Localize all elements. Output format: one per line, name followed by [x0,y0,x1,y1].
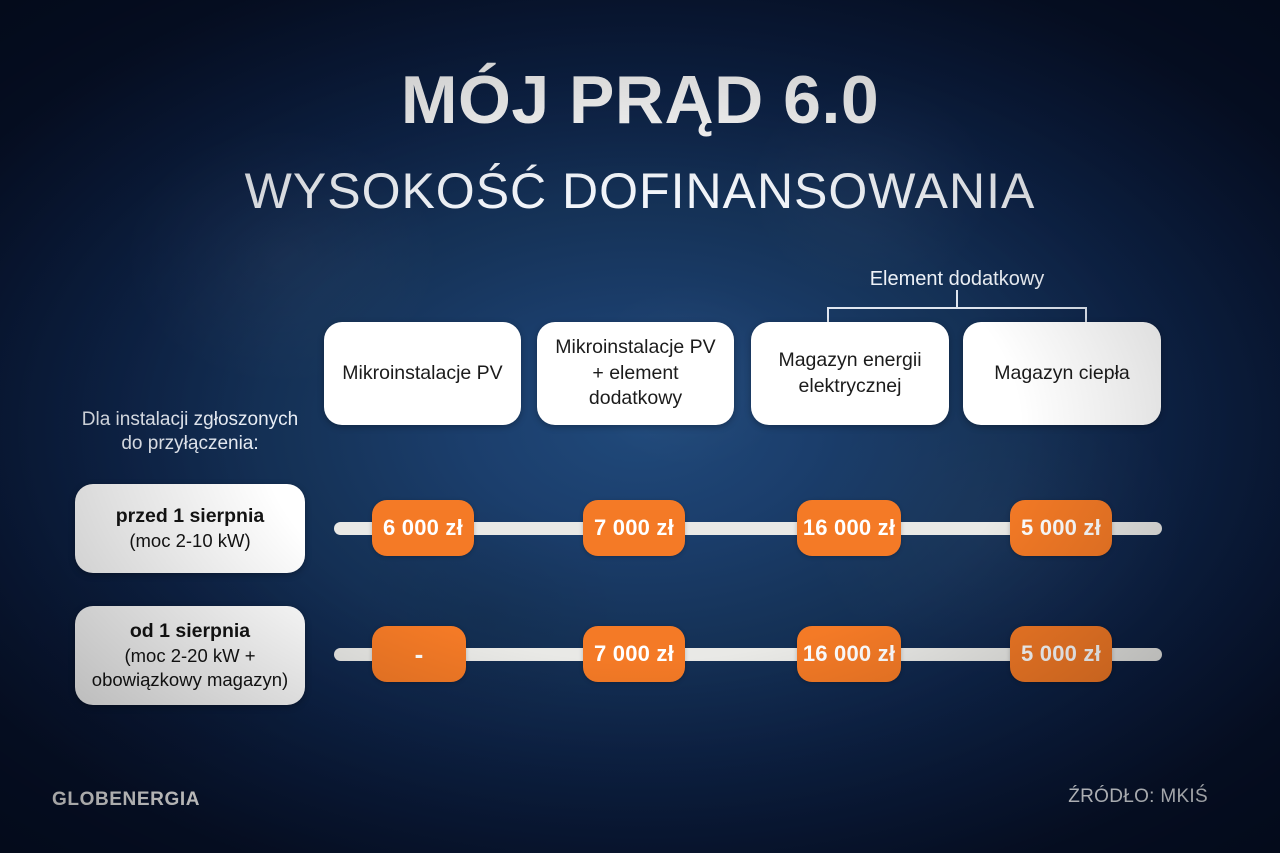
category-card-mikroinstalacje-pv[interactable]: Mikroinstalacje PV [324,322,521,425]
category-card-mikroinstalacje-pv-element-dodatkowy[interactable]: Mikroinstalacje PV + element dodatkowy [537,322,734,425]
value-pill[interactable]: 5 000 zł [1010,500,1112,556]
category-card-magazyn-energii-elektrycznej[interactable]: Magazyn energii elektrycznej [751,322,949,425]
value-pill[interactable]: 6 000 zł [372,500,474,556]
row-label-main: od 1 sierpnia [130,619,250,644]
bracket-stem-icon [956,290,958,307]
brand-logo: GLOBENERGIA [52,789,200,811]
category-card-magazyn-ciepla[interactable]: Magazyn ciepła [963,322,1161,425]
value-pill[interactable]: 16 000 zł [797,500,901,556]
row-label-card-od-1-sierpnia[interactable]: od 1 sierpnia (moc 2-20 kW + obowiązkowy… [75,606,305,705]
value-pill[interactable]: 16 000 zł [797,626,901,682]
page-subtitle: WYSOKOŚĆ DOFINANSOWANIA [0,166,1280,216]
infographic-canvas: MÓJ PRĄD 6.0 WYSOKOŚĆ DOFINANSOWANIA Ele… [0,0,1280,853]
value-pill[interactable]: 7 000 zł [583,626,685,682]
bracket-horizontal-line [827,307,1087,309]
row-label-sub: (moc 2-10 kW) [129,529,250,553]
left-column-note: Dla instalacji zgłoszonych do przyłączen… [75,408,305,457]
value-track-row-od-1-sierpnia: - 7 000 zł 16 000 zł 5 000 zł [334,626,1162,682]
row-label-card-przed-1-sierpnia[interactable]: przed 1 sierpnia (moc 2-10 kW) [75,484,305,573]
page-title: MÓJ PRĄD 6.0 [0,66,1280,134]
category-label: Magazyn ciepła [994,361,1130,387]
value-pill[interactable]: - [372,626,466,682]
category-label: Mikroinstalacje PV [342,361,502,387]
value-pill[interactable]: 7 000 zł [583,500,685,556]
category-label: Magazyn energii elektrycznej [761,348,939,399]
source-credit: ŹRÓDŁO: MKIŚ [1068,786,1208,808]
row-label-main: przed 1 sierpnia [116,504,264,529]
value-pill[interactable]: 5 000 zł [1010,626,1112,682]
bracket-label: Element dodatkowy [827,268,1087,290]
row-label-sub: (moc 2-20 kW + obowiązkowy magazyn) [87,644,293,692]
category-label: Mikroinstalacje PV + element dodatkowy [547,335,724,412]
value-track-row-przed-1-sierpnia: 6 000 zł 7 000 zł 16 000 zł 5 000 zł [334,500,1162,556]
